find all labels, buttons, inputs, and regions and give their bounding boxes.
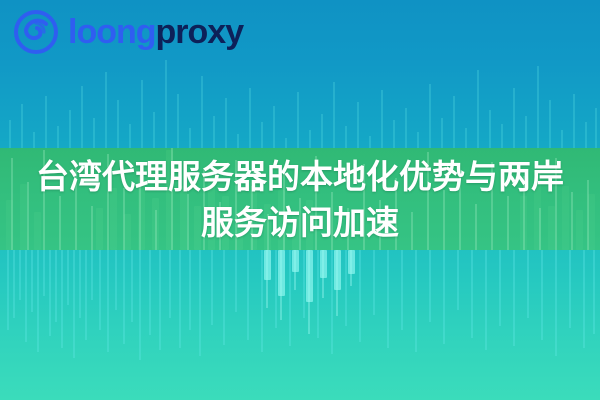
brand-name-primary: loong	[68, 10, 156, 54]
banner-canvas: 台湾代理服务器的本地化优势与两岸 服务访问加速 loongproxy	[0, 0, 600, 400]
swirl-spiral-icon	[14, 10, 58, 54]
brand-name-secondary: proxy	[156, 10, 244, 54]
headline-line-2: 服务访问加速	[201, 200, 399, 246]
brand-logo[interactable]: loongproxy	[14, 10, 243, 54]
brand-wordmark: loongproxy	[68, 10, 243, 54]
headline-line-1: 台湾代理服务器的本地化优势与两岸	[36, 154, 564, 200]
banner-headline: 台湾代理服务器的本地化优势与两岸 服务访问加速	[0, 150, 600, 250]
